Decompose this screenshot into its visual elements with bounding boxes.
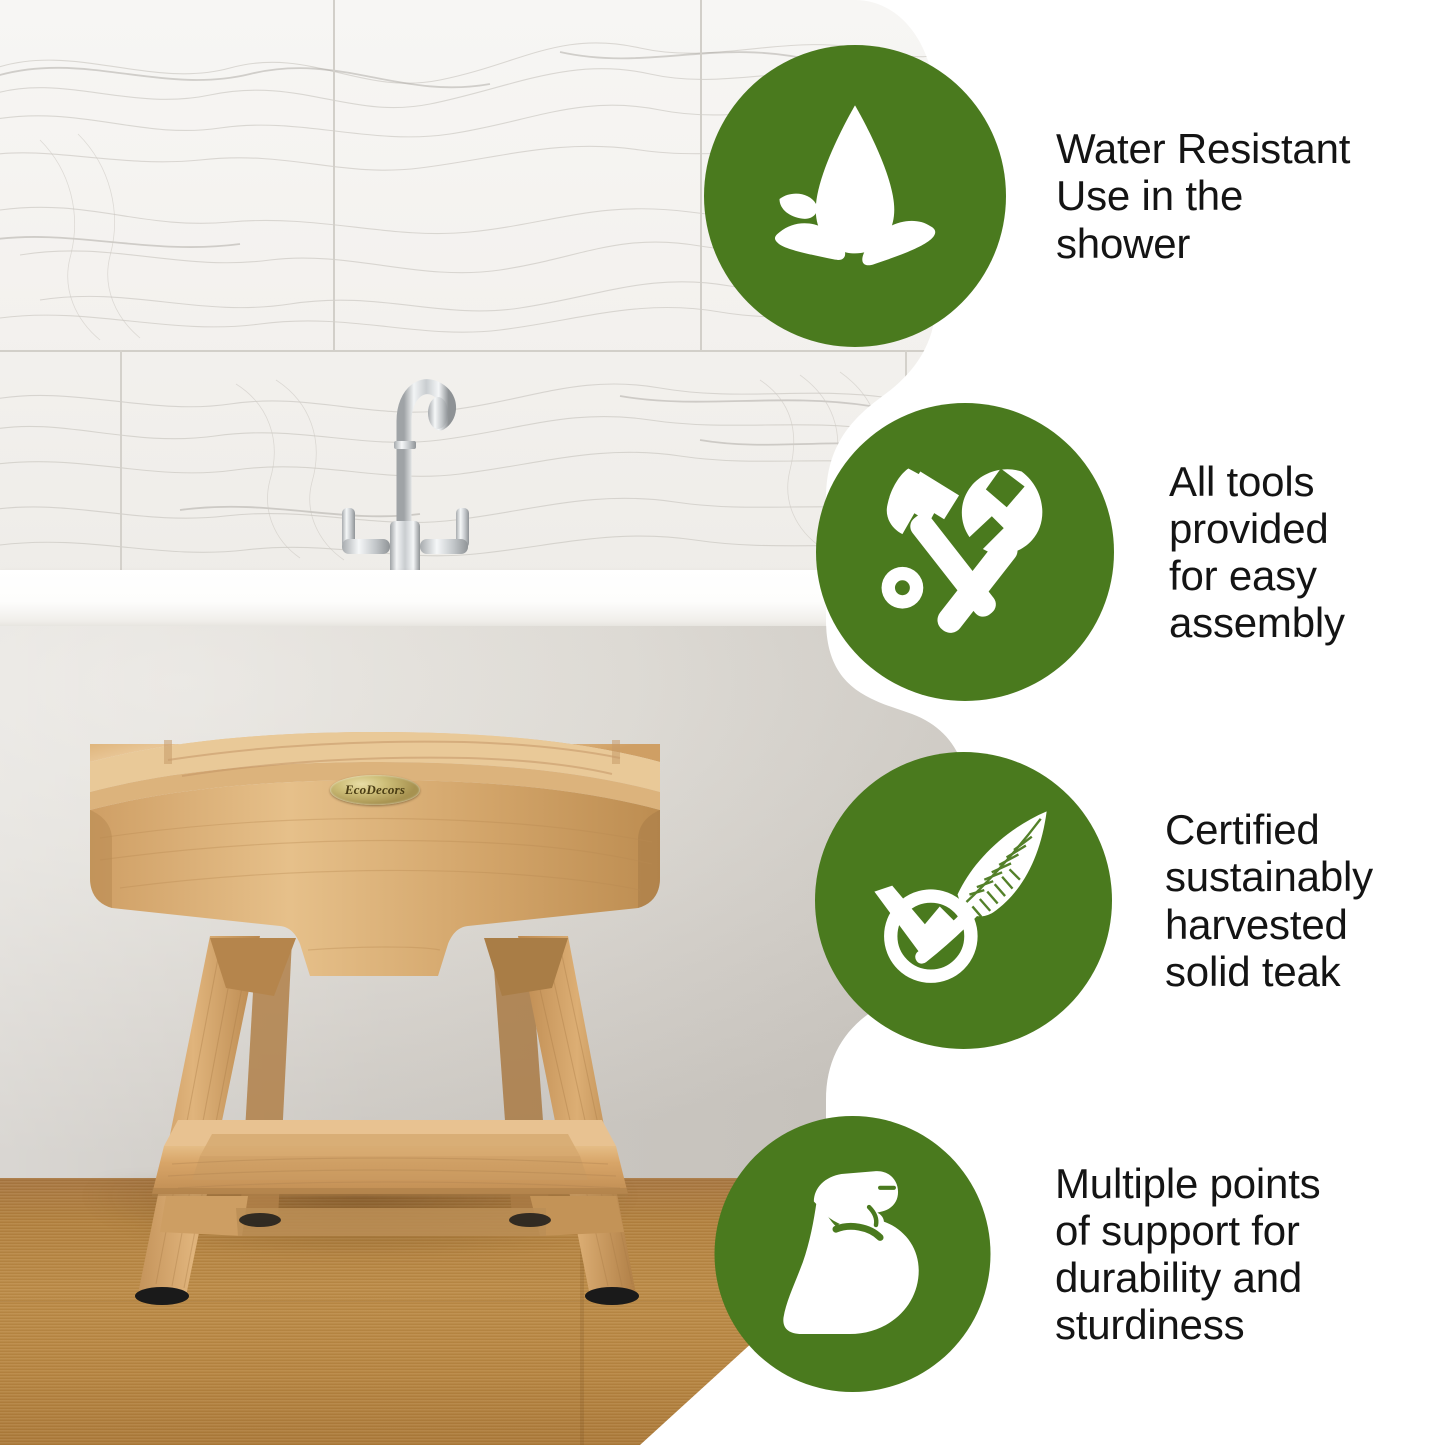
brand-plaque: EcoDecors bbox=[330, 775, 420, 805]
hammer-wrench-icon bbox=[815, 403, 1115, 701]
tile-grout-vertical-1 bbox=[333, 0, 335, 352]
feature-badge-circle bbox=[812, 752, 1115, 1049]
feature-row-multiple-support-points: Multiple points of support for durabilit… bbox=[700, 1116, 1395, 1392]
leaf-checkmark-icon bbox=[812, 752, 1115, 1049]
product-feature-infographic: EcoDecors Water Resistant Use in the sho… bbox=[0, 0, 1445, 1445]
flexed-bicep-icon bbox=[700, 1116, 1005, 1392]
tile-grout-vertical-2 bbox=[700, 0, 702, 352]
feature-label: Multiple points of support for durabilit… bbox=[1055, 1160, 1395, 1348]
feature-badge-circle bbox=[700, 1116, 1005, 1392]
feature-row-all-tools-provided: All tools provided for easy assembly bbox=[815, 403, 1445, 701]
feature-badge-circle bbox=[704, 45, 1006, 347]
brand-plaque-label: EcoDecors bbox=[345, 782, 405, 798]
feature-badge-circle bbox=[815, 403, 1115, 701]
feature-row-water-resistant: Water Resistant Use in the shower bbox=[704, 45, 1416, 347]
feature-label: All tools provided for easy assembly bbox=[1169, 458, 1445, 646]
feature-row-certified-sustainable: Certified sustainably harvested solid te… bbox=[812, 752, 1445, 1049]
tile-grout-horizontal bbox=[0, 350, 1000, 352]
water-drop-splash-icon bbox=[704, 45, 1006, 347]
chrome-faucet-icon bbox=[330, 325, 490, 585]
tile-grout-vertical-3 bbox=[120, 350, 122, 600]
feature-label: Certified sustainably harvested solid te… bbox=[1165, 806, 1445, 994]
feature-label: Water Resistant Use in the shower bbox=[1056, 125, 1416, 266]
